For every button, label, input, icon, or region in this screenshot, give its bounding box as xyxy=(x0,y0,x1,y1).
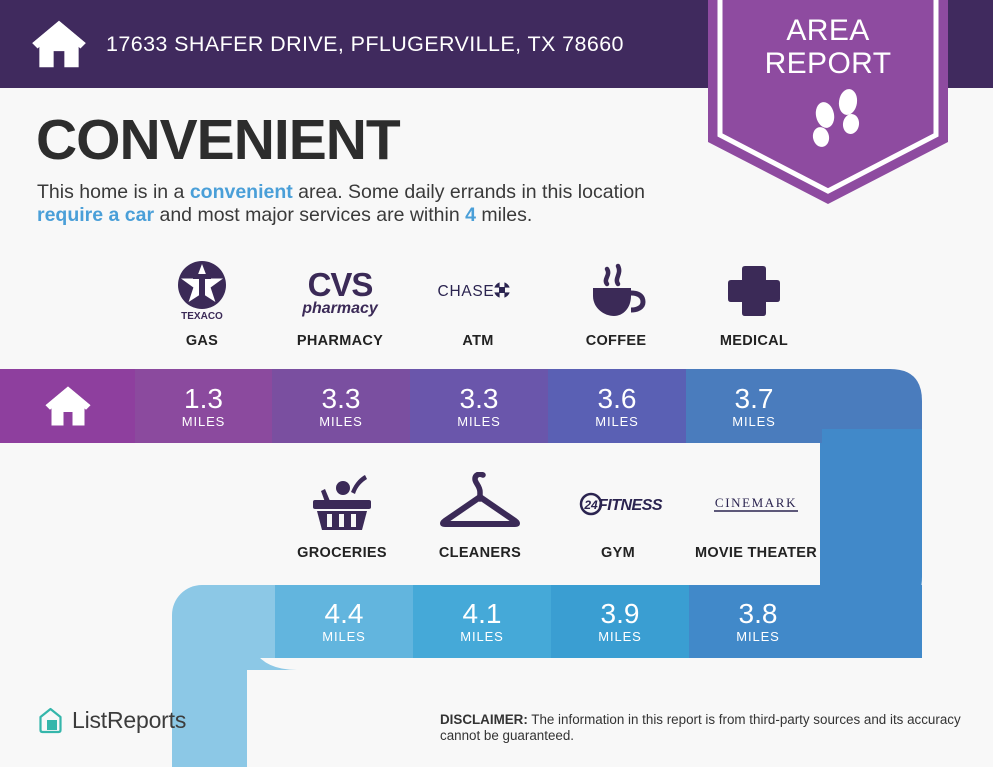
home-icon xyxy=(42,385,94,427)
svg-text:TEXACO: TEXACO xyxy=(181,311,223,322)
distance-unit: MILES xyxy=(182,414,226,429)
cinemark-logo: CINEMARK xyxy=(701,472,811,534)
coffee-cup-icon xyxy=(585,260,647,322)
category-label: GYM xyxy=(601,545,635,561)
badge-label: AREA REPORT xyxy=(708,14,948,80)
category-label: MEDICAL xyxy=(720,333,788,349)
distance-value: 4.4 xyxy=(325,599,364,628)
category-atm: CHASE ATM xyxy=(409,260,547,349)
bar-home-marker xyxy=(0,369,135,443)
svg-text:pharmacy: pharmacy xyxy=(301,300,379,317)
category-medical: MEDICAL xyxy=(685,260,823,349)
page-title: CONVENIENT xyxy=(36,107,400,173)
row1-icon-list: TEXACO GAS CVS pharmacy PHARMACY CHASE xyxy=(133,260,888,349)
area-report-page: 17633 SHAFER DRIVE, PFLUGERVILLE, TX 786… xyxy=(0,0,993,767)
distance-unit: MILES xyxy=(732,414,776,429)
category-gas: TEXACO GAS xyxy=(133,260,271,349)
property-address: 17633 SHAFER DRIVE, PFLUGERVILLE, TX 786… xyxy=(106,32,624,57)
badge-line-2: REPORT xyxy=(765,47,892,80)
category-label: COFFEE xyxy=(586,333,647,349)
row2-distance-bar: 4.4 MILES 4.1 MILES 3.9 MILES 3.8 MILES xyxy=(172,585,922,658)
listreports-house-icon xyxy=(38,707,63,734)
listreports-label: ListReports xyxy=(72,707,186,734)
svg-text:24: 24 xyxy=(583,498,598,512)
category-label: MOVIE THEATER xyxy=(695,545,817,561)
distance-unit: MILES xyxy=(319,414,363,429)
subtitle-part-4: miles. xyxy=(476,204,532,226)
row2-bar-tail xyxy=(827,585,922,658)
listreports-logo[interactable]: ListReports xyxy=(38,707,186,734)
distance-segment-movie-theater: 3.8 MILES xyxy=(689,585,827,658)
svg-text:CINEMARK: CINEMARK xyxy=(715,495,797,510)
distance-unit: MILES xyxy=(460,629,504,644)
clothes-hanger-icon xyxy=(435,472,525,534)
distance-value: 3.7 xyxy=(735,384,774,413)
distance-unit: MILES xyxy=(595,414,639,429)
subtitle-highlight-1: convenient xyxy=(190,181,293,203)
distance-value: 1.3 xyxy=(184,384,223,413)
distance-unit: MILES xyxy=(457,414,501,429)
distance-segment-pharmacy: 3.3 MILES xyxy=(272,369,410,443)
distance-value: 3.6 xyxy=(598,384,637,413)
chase-logo: CHASE xyxy=(432,260,524,322)
subtitle-part-2: area. Some daily errands in this locatio… xyxy=(293,181,645,203)
area-report-badge: AREA REPORT xyxy=(708,0,948,212)
cvs-pharmacy-logo: CVS pharmacy xyxy=(294,260,386,322)
category-label: CLEANERS xyxy=(439,545,521,561)
disclaimer: DISCLAIMER: The information in this repo… xyxy=(440,712,985,744)
category-pharmacy: CVS pharmacy PHARMACY xyxy=(271,260,409,349)
distance-value: 3.9 xyxy=(601,599,640,628)
subtitle-part-3: and most major services are within xyxy=(154,204,465,226)
category-movie-theater: CINEMARK MOVIE THEATER xyxy=(687,472,825,561)
category-label: GAS xyxy=(186,333,218,349)
svg-text:CHASE: CHASE xyxy=(438,283,495,300)
subtitle-part-1: This home is in a xyxy=(37,181,190,203)
row2-bar-lead xyxy=(172,585,275,658)
subtitle-highlight-3: 4 xyxy=(465,204,476,226)
category-label: PHARMACY xyxy=(297,333,383,349)
distance-unit: MILES xyxy=(736,629,780,644)
texaco-logo: TEXACO xyxy=(174,260,230,322)
disclaimer-label: DISCLAIMER: xyxy=(440,712,528,727)
distance-unit: MILES xyxy=(598,629,642,644)
home-icon xyxy=(30,19,88,69)
row1-distance-bar: 1.3 MILES 3.3 MILES 3.3 MILES 3.6 MILES … xyxy=(0,369,822,443)
distance-value: 3.8 xyxy=(739,599,778,628)
svg-text:CVS: CVS xyxy=(308,266,373,303)
badge-line-1: AREA xyxy=(786,14,869,47)
page-subtitle: This home is in a convenient area. Some … xyxy=(37,181,697,226)
category-cleaners: CLEANERS xyxy=(411,472,549,561)
category-label: ATM xyxy=(462,333,493,349)
24-hour-fitness-logo: 24 FITNESS xyxy=(568,472,668,534)
distance-segment-gas: 1.3 MILES xyxy=(135,369,272,443)
grocery-basket-icon xyxy=(307,472,377,534)
distance-segment-groceries: 4.4 MILES xyxy=(275,585,413,658)
distance-value: 4.1 xyxy=(463,599,502,628)
distance-segment-gym: 3.9 MILES xyxy=(551,585,689,658)
category-coffee: COFFEE xyxy=(547,260,685,349)
distance-unit: MILES xyxy=(322,629,366,644)
distance-segment-coffee: 3.6 MILES xyxy=(548,369,686,443)
subtitle-highlight-2: require a car xyxy=(37,204,154,226)
distance-segment-medical: 3.7 MILES xyxy=(686,369,822,443)
distance-segment-atm: 3.3 MILES xyxy=(410,369,548,443)
category-groceries: GROCERIES xyxy=(273,472,411,561)
row2-icon-list: GROCERIES CLEANERS 24 FITNESS GYM xyxy=(273,472,888,561)
medical-cross-icon xyxy=(724,260,784,322)
distance-value: 3.3 xyxy=(322,384,361,413)
category-label: GROCERIES xyxy=(297,545,387,561)
distance-value: 3.3 xyxy=(460,384,499,413)
svg-text:FITNESS: FITNESS xyxy=(598,497,663,514)
category-gym: 24 FITNESS GYM xyxy=(549,472,687,561)
distance-segment-cleaners: 4.1 MILES xyxy=(413,585,551,658)
